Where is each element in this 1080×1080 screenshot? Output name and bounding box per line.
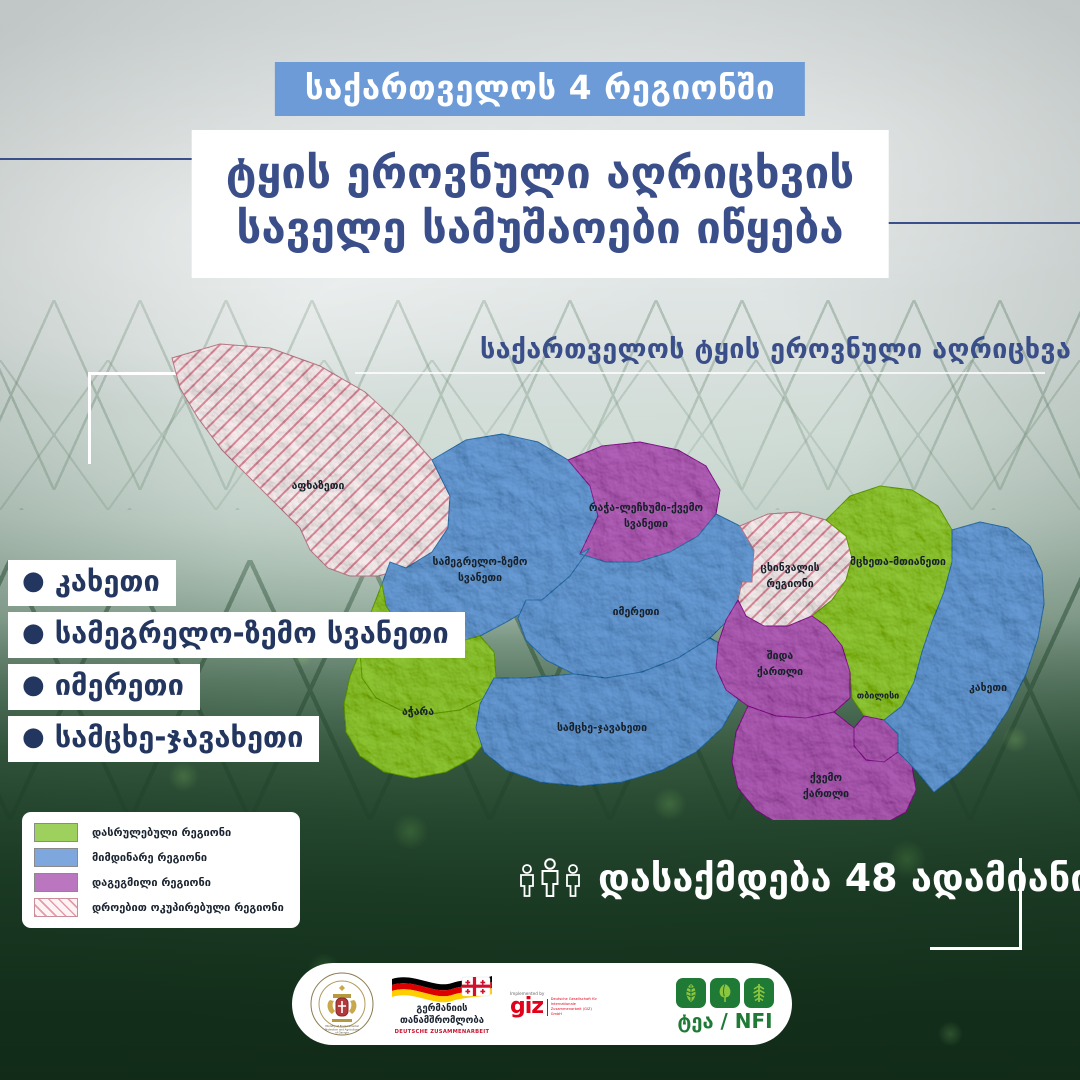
map-label-kvemo-line2: ქართლი bbox=[803, 788, 849, 800]
nfi-logo: ტეა / NFI bbox=[676, 978, 774, 1031]
legend-swatch-completed bbox=[34, 823, 78, 842]
region-bullet-list: ●კახეთი ●სამეგრელო-ზემო სვანეთი ●იმერეთი… bbox=[8, 560, 465, 768]
list-item: ●იმერეთი bbox=[8, 664, 200, 710]
list-item: ●კახეთი bbox=[8, 560, 176, 606]
headline-box: ტყის ეროვნული აღრიცხვის საველე სამუშაოებ… bbox=[192, 130, 889, 278]
bullet-label: სამცხე-ჯავახეთი bbox=[55, 720, 304, 754]
map-label-abkhazeti: აფხაზეთი bbox=[292, 480, 345, 492]
headline-line-1: ტყის ეროვნული აღრიცხვის bbox=[226, 147, 855, 202]
infographic-poster: საქართველოს 4 რეგიონში ტყის ეროვნული აღრ… bbox=[0, 0, 1080, 1080]
nfi-tiles-group bbox=[676, 978, 774, 1008]
person-icon bbox=[518, 864, 536, 898]
map-label-shida-line2: ქართლი bbox=[757, 666, 803, 678]
german-coop-latin-label: DEUTSCHE ZUSAMMENARBEIT bbox=[395, 1029, 490, 1035]
bullet-dot-icon: ● bbox=[22, 568, 45, 594]
bullet-label: სამეგრელო-ზემო სვანეთი bbox=[55, 616, 449, 650]
map-label-racha-line1: რაჭა-ლეჩხუმი-ქვემო bbox=[589, 502, 704, 514]
legend-label-planned: დაგეგმილი რეგიონი bbox=[92, 876, 211, 889]
map-label-imereti: იმერეთი bbox=[613, 606, 660, 618]
bullet-dot-icon: ● bbox=[22, 672, 45, 698]
legend-label-completed: დასრულებული რეგიონი bbox=[92, 826, 231, 839]
giz-divider bbox=[547, 999, 548, 1016]
german-coop-label-line2: თანამშრომლობა bbox=[400, 1015, 484, 1027]
map-legend: დასრულებული რეგიონი მიმდინარე რეგიონი და… bbox=[22, 812, 300, 928]
employment-stat: დასაქმდება 48 ადამიანი bbox=[518, 858, 1080, 898]
legend-swatch-ongoing bbox=[34, 848, 78, 867]
german-cooperation-logo: გერმანიის თანამშრომლობა DEUTSCHE ZUSAMME… bbox=[388, 973, 496, 1035]
giz-wordmark: giz bbox=[510, 998, 543, 1017]
svg-text:of Georgia: of Georgia bbox=[335, 1031, 349, 1035]
map-label-samtskhe: სამცხე-ჯავახეთი bbox=[557, 722, 647, 734]
legend-item-completed: დასრულებული რეგიონი bbox=[34, 823, 284, 842]
map-label-racha-line2: სვანეთი bbox=[624, 518, 668, 530]
list-item: ●სამეგრელო-ზემო სვანეთი bbox=[8, 612, 465, 658]
tree-icon bbox=[710, 978, 740, 1008]
list-item: ●სამცხე-ჯავახეთი bbox=[8, 716, 319, 762]
svg-text:Ministry of Environmental: Ministry of Environmental bbox=[325, 1024, 359, 1028]
bullet-label: იმერეთი bbox=[55, 668, 184, 702]
legend-item-planned: დაგეგმილი რეგიონი bbox=[34, 873, 284, 892]
bullet-dot-icon: ● bbox=[22, 724, 45, 750]
german-coop-label-line1: გერმანიის bbox=[400, 1003, 484, 1015]
map-label-tskhinvali-line2: რეგიონი bbox=[766, 578, 813, 590]
kicker-banner: საქართველოს 4 რეგიონში bbox=[275, 62, 805, 116]
legend-item-occupied: დროებით ოკუპირებული რეგიონი bbox=[34, 898, 284, 917]
person-icon bbox=[539, 858, 561, 898]
employment-stat-text: დასაქმდება 48 ადამიანი bbox=[598, 859, 1080, 897]
map-label-mtskheta: მცხეთა-მთიანეთი bbox=[850, 556, 946, 568]
legend-item-ongoing: მიმდინარე რეგიონი bbox=[34, 848, 284, 867]
map-label-shida-line1: შიდა bbox=[767, 650, 793, 662]
map-label-kvemo-line1: ქვემო bbox=[810, 772, 843, 784]
german-georgian-flag-ribbon bbox=[390, 973, 494, 1003]
headline-line-2: საველე სამუშაოები იწყება bbox=[226, 202, 855, 257]
person-icon bbox=[564, 864, 582, 898]
people-icons-group bbox=[518, 858, 582, 898]
giz-description: Deutsche Gesellschaft für Internationale… bbox=[551, 997, 602, 1016]
partner-logo-bar: Ministry of Environmental Protection and… bbox=[292, 963, 792, 1045]
leaf-icon bbox=[676, 978, 706, 1008]
legend-swatch-planned bbox=[34, 873, 78, 892]
legend-swatch-occupied bbox=[34, 898, 78, 917]
giz-logo: Implemented by giz Deutsche Gesellschaft… bbox=[510, 991, 602, 1016]
map-label-tskhinvali-line1: ცხინვალის bbox=[760, 562, 819, 574]
map-label-tbilisi: თბილისი bbox=[857, 692, 900, 702]
bullet-label: კახეთი bbox=[55, 564, 160, 598]
georgia-ministry-emblem: Ministry of Environmental Protection and… bbox=[310, 972, 374, 1036]
nfi-wordmark: ტეა / NFI bbox=[677, 1011, 772, 1031]
bullet-dot-icon: ● bbox=[22, 620, 45, 646]
legend-label-occupied: დროებით ოკუპირებული რეგიონი bbox=[92, 901, 284, 914]
map-label-kakheti: კახეთი bbox=[969, 682, 1007, 694]
legend-label-ongoing: მიმდინარე რეგიონი bbox=[92, 851, 207, 864]
conifer-icon bbox=[744, 978, 774, 1008]
